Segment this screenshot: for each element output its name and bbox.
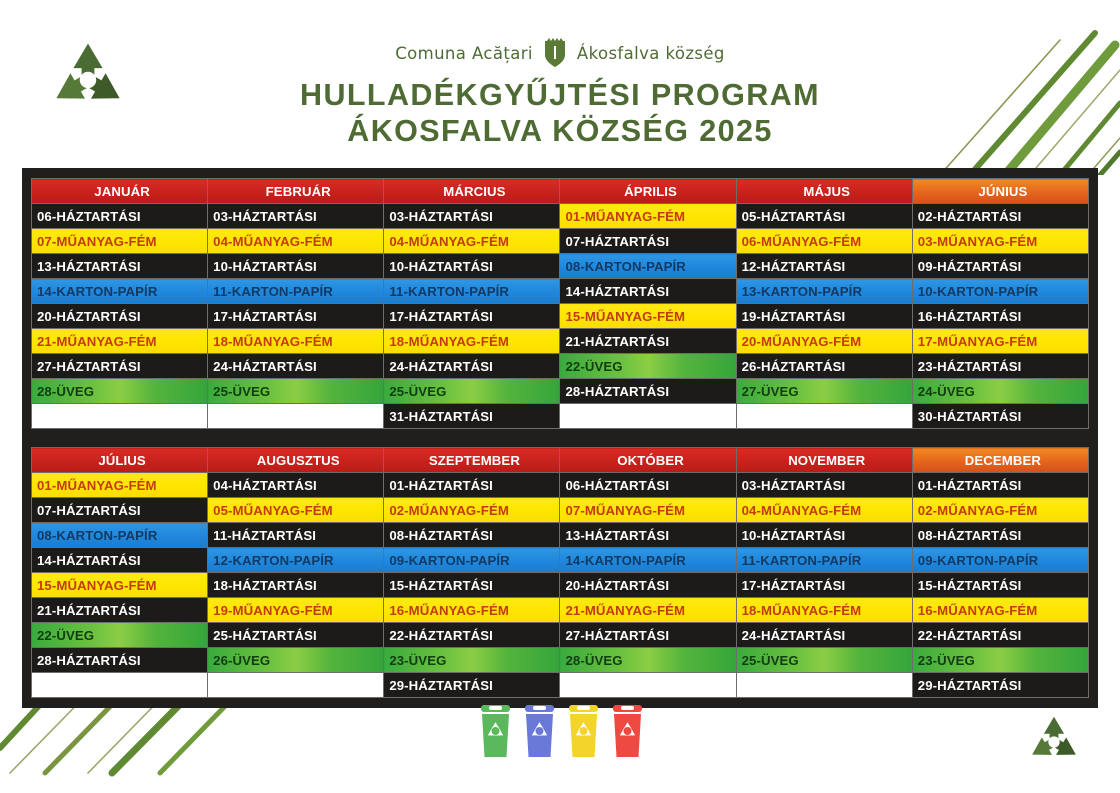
collection-row: 14-HÁZTARTÁSI12-KARTON-PAPÍR09-KARTON-PA… (32, 548, 1089, 573)
collection-cell-muanyag: 19-MŰANYAG-FÉM (208, 598, 384, 623)
collection-cell-muanyag: 18-MŰANYAG-FÉM (736, 598, 912, 623)
month-header-június: JÚNIUS (912, 179, 1088, 204)
collection-row: 22-ÜVEG25-HÁZTARTÁSI22-HÁZTARTÁSI27-HÁZT… (32, 623, 1089, 648)
collection-cell-haz: 11-HÁZTARTÁSI (208, 523, 384, 548)
collection-cell-karton: 09-KARTON-PAPÍR (384, 548, 560, 573)
collection-cell-karton: 14-KARTON-PAPÍR (32, 279, 208, 304)
collection-cell-haz: 06-HÁZTARTÁSI (32, 204, 208, 229)
collection-row: 21-HÁZTARTÁSI19-MŰANYAG-FÉM16-MŰANYAG-FÉ… (32, 598, 1089, 623)
collection-cell-uveg: 23-ÜVEG (912, 648, 1088, 673)
collection-cell-muanyag: 15-MŰANYAG-FÉM (32, 573, 208, 598)
month-header-december: DECEMBER (912, 448, 1088, 473)
month-header-szeptember: SZEPTEMBER (384, 448, 560, 473)
collection-cell-karton: 10-KARTON-PAPÍR (912, 279, 1088, 304)
recycle-symbol-icon-bottom (1022, 713, 1086, 771)
collection-cell-haz: 16-HÁZTARTÁSI (912, 304, 1088, 329)
collection-cell-haz: 26-HÁZTARTÁSI (736, 354, 912, 379)
collection-cell-karton: 11-KARTON-PAPÍR (736, 548, 912, 573)
month-header-február: FEBRUÁR (208, 179, 384, 204)
collection-cell-haz: 04-HÁZTARTÁSI (208, 473, 384, 498)
month-header-április: ÁPRILIS (560, 179, 736, 204)
collection-cell-uveg: 28-ÜVEG (560, 648, 736, 673)
title-block: Comuna Acățari Ákosfalva község HULLADÉK… (0, 38, 1120, 150)
empty-cell (560, 673, 736, 698)
collection-row: 01-MŰANYAG-FÉM04-HÁZTARTÁSI01-HÁZTARTÁSI… (32, 473, 1089, 498)
collection-cell-muanyag: 21-MŰANYAG-FÉM (560, 598, 736, 623)
collection-cell-karton: 09-KARTON-PAPÍR (912, 548, 1088, 573)
calendar-board-second-half: JÚLIUSAUGUSZTUSSZEPTEMBEROKTÓBERNOVEMBER… (22, 437, 1098, 708)
collection-cell-haz: 07-HÁZTARTÁSI (560, 229, 736, 254)
collection-cell-haz: 28-HÁZTARTÁSI (560, 379, 736, 404)
collection-cell-haz: 13-HÁZTARTÁSI (560, 523, 736, 548)
commune-line: Comuna Acățari Ákosfalva község (0, 38, 1120, 68)
collection-cell-haz: 14-HÁZTARTÁSI (32, 548, 208, 573)
collection-cell-haz: 17-HÁZTARTÁSI (384, 304, 560, 329)
crest-svg (542, 38, 568, 68)
collection-row: 13-HÁZTARTÁSI10-HÁZTARTÁSI10-HÁZTARTÁSI0… (32, 254, 1089, 279)
collection-cell-uveg: 28-ÜVEG (32, 379, 208, 404)
month-header-március: MÁRCIUS (384, 179, 560, 204)
collection-cell-haz: 09-HÁZTARTÁSI (912, 254, 1088, 279)
collection-cell-muanyag: 07-MŰANYAG-FÉM (32, 229, 208, 254)
collection-cell-haz: 28-HÁZTARTÁSI (32, 648, 208, 673)
collection-cell-muanyag: 20-MŰANYAG-FÉM (736, 329, 912, 354)
collection-cell-haz: 31-HÁZTARTÁSI (384, 404, 560, 429)
collection-cell-uveg: 23-ÜVEG (384, 648, 560, 673)
collection-cell-haz: 21-HÁZTARTÁSI (560, 329, 736, 354)
month-header-november: NOVEMBER (736, 448, 912, 473)
poster-header: Comuna Acățari Ákosfalva község HULLADÉK… (0, 0, 1120, 160)
page-title: HULLADÉKGYŰJTÉSI PROGRAM ÁKOSFALVA KÖZSÉ… (0, 78, 1120, 150)
commune-name-hu: Ákosfalva község (577, 44, 725, 63)
empty-cell (560, 404, 736, 429)
collection-cell-haz: 06-HÁZTARTÁSI (560, 473, 736, 498)
collection-cell-haz: 01-HÁZTARTÁSI (912, 473, 1088, 498)
collection-row: 08-KARTON-PAPÍR11-HÁZTARTÁSI08-HÁZTARTÁS… (32, 523, 1089, 548)
collection-cell-muanyag: 01-MŰANYAG-FÉM (560, 204, 736, 229)
collection-row: 27-HÁZTARTÁSI24-HÁZTARTÁSI24-HÁZTARTÁSI2… (32, 354, 1089, 379)
empty-cell (736, 673, 912, 698)
collection-cell-uveg: 25-ÜVEG (208, 379, 384, 404)
collection-cell-haz: 08-HÁZTARTÁSI (384, 523, 560, 548)
collection-cell-haz: 20-HÁZTARTÁSI (32, 304, 208, 329)
collection-cell-karton: 11-KARTON-PAPÍR (384, 279, 560, 304)
collection-row: 29-HÁZTARTÁSI29-HÁZTARTÁSI (32, 673, 1089, 698)
collection-cell-haz: 24-HÁZTARTÁSI (736, 623, 912, 648)
collection-cell-muanyag: 06-MŰANYAG-FÉM (736, 229, 912, 254)
collection-cell-karton: 13-KARTON-PAPÍR (736, 279, 912, 304)
collection-cell-haz: 20-HÁZTARTÁSI (560, 573, 736, 598)
collection-cell-muanyag: 02-MŰANYAG-FÉM (384, 498, 560, 523)
collection-cell-haz: 17-HÁZTARTÁSI (208, 304, 384, 329)
collection-cell-haz: 05-HÁZTARTÁSI (736, 204, 912, 229)
collection-cell-haz: 15-HÁZTARTÁSI (384, 573, 560, 598)
collection-row: 15-MŰANYAG-FÉM18-HÁZTARTÁSI15-HÁZTARTÁSI… (32, 573, 1089, 598)
collection-cell-haz: 22-HÁZTARTÁSI (384, 623, 560, 648)
bin-blue (522, 703, 557, 759)
collection-cell-muanyag: 18-MŰANYAG-FÉM (208, 329, 384, 354)
month-header-row: JANUÁRFEBRUÁRMÁRCIUSÁPRILISMÁJUSJÚNIUS (32, 179, 1089, 204)
waste-bin-legend (478, 703, 648, 759)
collection-cell-haz: 01-HÁZTARTÁSI (384, 473, 560, 498)
collection-cell-haz: 19-HÁZTARTÁSI (736, 304, 912, 329)
collection-cell-muanyag: 16-MŰANYAG-FÉM (912, 598, 1088, 623)
collection-cell-uveg: 25-ÜVEG (736, 648, 912, 673)
collection-cell-haz: 15-HÁZTARTÁSI (912, 573, 1088, 598)
empty-cell (32, 673, 208, 698)
collection-cell-haz: 10-HÁZTARTÁSI (736, 523, 912, 548)
collection-cell-haz: 10-HÁZTARTÁSI (384, 254, 560, 279)
bin-green (478, 703, 513, 759)
collection-cell-karton: 08-KARTON-PAPÍR (560, 254, 736, 279)
collection-cell-haz: 30-HÁZTARTÁSI (912, 404, 1088, 429)
collection-cell-haz: 13-HÁZTARTÁSI (32, 254, 208, 279)
collection-row: 07-MŰANYAG-FÉM04-MŰANYAG-FÉM04-MŰANYAG-F… (32, 229, 1089, 254)
collection-cell-karton: 12-KARTON-PAPÍR (208, 548, 384, 573)
bin-blue-svg (522, 703, 557, 759)
collection-cell-muanyag: 17-MŰANYAG-FÉM (912, 329, 1088, 354)
collection-cell-muanyag: 16-MŰANYAG-FÉM (384, 598, 560, 623)
empty-cell (208, 404, 384, 429)
collection-row: 20-HÁZTARTÁSI17-HÁZTARTÁSI17-HÁZTARTÁSI1… (32, 304, 1089, 329)
collection-cell-uveg: 27-ÜVEG (736, 379, 912, 404)
collection-cell-haz: 27-HÁZTARTÁSI (32, 354, 208, 379)
collection-cell-haz: 14-HÁZTARTÁSI (560, 279, 736, 304)
collection-cell-haz: 03-HÁZTARTÁSI (208, 204, 384, 229)
collection-cell-haz: 24-HÁZTARTÁSI (208, 354, 384, 379)
collection-cell-haz: 22-HÁZTARTÁSI (912, 623, 1088, 648)
collection-row: 06-HÁZTARTÁSI03-HÁZTARTÁSI03-HÁZTARTÁSI0… (32, 204, 1089, 229)
collection-cell-uveg: 22-ÜVEG (32, 623, 208, 648)
calendar-table-second-half: JÚLIUSAUGUSZTUSSZEPTEMBEROKTÓBERNOVEMBER… (31, 447, 1089, 698)
collection-cell-haz: 03-HÁZTARTÁSI (736, 473, 912, 498)
page-title-line1: HULLADÉKGYŰJTÉSI PROGRAM (0, 78, 1120, 114)
collection-cell-haz: 02-HÁZTARTÁSI (912, 204, 1088, 229)
collection-cell-karton: 11-KARTON-PAPÍR (208, 279, 384, 304)
poster-page: Comuna Acățari Ákosfalva község HULLADÉK… (0, 0, 1120, 793)
collection-cell-muanyag: 15-MŰANYAG-FÉM (560, 304, 736, 329)
collection-cell-haz: 21-HÁZTARTÁSI (32, 598, 208, 623)
collection-cell-haz: 27-HÁZTARTÁSI (560, 623, 736, 648)
commune-name-ro: Comuna Acățari (395, 44, 533, 63)
collection-cell-haz: 10-HÁZTARTÁSI (208, 254, 384, 279)
collection-cell-haz: 29-HÁZTARTÁSI (384, 673, 560, 698)
month-header-július: JÚLIUS (32, 448, 208, 473)
collection-cell-muanyag: 03-MŰANYAG-FÉM (912, 229, 1088, 254)
coat-of-arms-shield-icon (542, 38, 568, 68)
collection-cell-muanyag: 07-MŰANYAG-FÉM (560, 498, 736, 523)
month-header-október: OKTÓBER (560, 448, 736, 473)
collection-row: 28-ÜVEG25-ÜVEG25-ÜVEG28-HÁZTARTÁSI27-ÜVE… (32, 379, 1089, 404)
month-header-row: JÚLIUSAUGUSZTUSSZEPTEMBEROKTÓBERNOVEMBER… (32, 448, 1089, 473)
collection-cell-haz: 23-HÁZTARTÁSI (912, 354, 1088, 379)
collection-row: 07-HÁZTARTÁSI05-MŰANYAG-FÉM02-MŰANYAG-FÉ… (32, 498, 1089, 523)
collection-cell-muanyag: 04-MŰANYAG-FÉM (208, 229, 384, 254)
empty-cell (208, 673, 384, 698)
collection-cell-haz: 25-HÁZTARTÁSI (208, 623, 384, 648)
collection-cell-haz: 12-HÁZTARTÁSI (736, 254, 912, 279)
recycle-symbol-svg-bottom (1022, 713, 1086, 771)
empty-cell (736, 404, 912, 429)
collection-row: 14-KARTON-PAPÍR11-KARTON-PAPÍR11-KARTON-… (32, 279, 1089, 304)
collection-cell-haz: 03-HÁZTARTÁSI (384, 204, 560, 229)
empty-cell (32, 404, 208, 429)
collection-row: 28-HÁZTARTÁSI26-ÜVEG23-ÜVEG28-ÜVEG25-ÜVE… (32, 648, 1089, 673)
calendar-board-first-half: JANUÁRFEBRUÁRMÁRCIUSÁPRILISMÁJUSJÚNIUS 0… (22, 168, 1098, 439)
collection-cell-haz: 24-HÁZTARTÁSI (384, 354, 560, 379)
collection-cell-uveg: 26-ÜVEG (208, 648, 384, 673)
bin-red-svg (610, 703, 645, 759)
collection-cell-muanyag: 21-MŰANYAG-FÉM (32, 329, 208, 354)
calendar-table-first-half: JANUÁRFEBRUÁRMÁRCIUSÁPRILISMÁJUSJÚNIUS 0… (31, 178, 1089, 429)
page-title-line2: ÁKOSFALVA KÖZSÉG 2025 (0, 114, 1120, 150)
bin-yellow (566, 703, 601, 759)
collection-cell-muanyag: 05-MŰANYAG-FÉM (208, 498, 384, 523)
collection-cell-karton: 08-KARTON-PAPÍR (32, 523, 208, 548)
collection-cell-uveg: 24-ÜVEG (912, 379, 1088, 404)
collection-cell-uveg: 22-ÜVEG (560, 354, 736, 379)
month-header-augusztus: AUGUSZTUS (208, 448, 384, 473)
collection-row: 21-MŰANYAG-FÉM18-MŰANYAG-FÉM18-MŰANYAG-F… (32, 329, 1089, 354)
collection-cell-muanyag: 01-MŰANYAG-FÉM (32, 473, 208, 498)
month-header-január: JANUÁR (32, 179, 208, 204)
bin-red (610, 703, 645, 759)
collection-cell-haz: 08-HÁZTARTÁSI (912, 523, 1088, 548)
bin-yellow-svg (566, 703, 601, 759)
collection-cell-muanyag: 04-MŰANYAG-FÉM (736, 498, 912, 523)
collection-cell-muanyag: 02-MŰANYAG-FÉM (912, 498, 1088, 523)
bin-green-svg (478, 703, 513, 759)
collection-cell-muanyag: 18-MŰANYAG-FÉM (384, 329, 560, 354)
collection-cell-muanyag: 04-MŰANYAG-FÉM (384, 229, 560, 254)
month-header-május: MÁJUS (736, 179, 912, 204)
collection-cell-haz: 17-HÁZTARTÁSI (736, 573, 912, 598)
collection-cell-karton: 14-KARTON-PAPÍR (560, 548, 736, 573)
collection-row: 31-HÁZTARTÁSI30-HÁZTARTÁSI (32, 404, 1089, 429)
collection-cell-uveg: 25-ÜVEG (384, 379, 560, 404)
collection-cell-haz: 18-HÁZTARTÁSI (208, 573, 384, 598)
collection-cell-haz: 07-HÁZTARTÁSI (32, 498, 208, 523)
collection-cell-haz: 29-HÁZTARTÁSI (912, 673, 1088, 698)
